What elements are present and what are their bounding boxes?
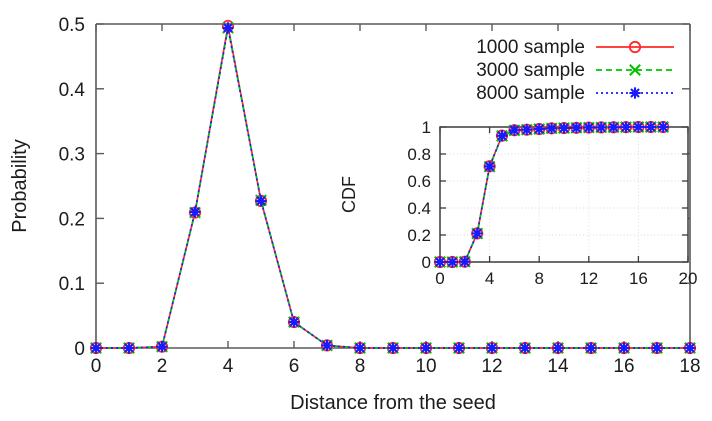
data-point-marker-star	[288, 316, 299, 327]
legend-entry-3: 8000 sample	[476, 83, 674, 104]
inset-xtick-label: 20	[679, 269, 698, 288]
data-point-marker-star	[618, 342, 629, 353]
data-point-marker-star	[496, 130, 507, 141]
data-point-marker-star	[658, 121, 669, 132]
legend-label: 8000 sample	[476, 83, 585, 104]
main-ytick-label: 0.3	[59, 145, 85, 166]
data-point-marker-star	[684, 342, 695, 353]
data-point-marker-star	[534, 123, 545, 134]
chart-figure: 02468101214161800.10.20.30.40.5Distance …	[0, 0, 712, 421]
main-xtick-label: 6	[289, 356, 300, 377]
data-point-marker-star	[596, 122, 607, 133]
main-ytick-label: 0.2	[59, 209, 85, 230]
main-ytick-label: 0.1	[59, 274, 85, 295]
data-point-marker-star	[90, 342, 101, 353]
data-point-marker-star	[486, 342, 497, 353]
data-point-marker-star	[484, 161, 495, 172]
inset-ytick-label: 0.2	[407, 226, 431, 245]
inset-ytick-label: 1	[422, 118, 431, 137]
legend-label: 3000 sample	[476, 60, 585, 81]
legend-entry-2: 3000 sample	[476, 60, 674, 81]
main-xtick-label: 2	[157, 356, 168, 377]
inset-ytick-label: 0.8	[407, 145, 431, 164]
chart-svg: 02468101214161800.10.20.30.40.5Distance …	[0, 0, 712, 421]
data-point-marker-star	[255, 195, 266, 206]
inset-ytick-label: 0.4	[407, 199, 431, 218]
inset-xtick-label: 16	[629, 269, 648, 288]
inset-xtick-label: 8	[534, 269, 543, 288]
data-point-marker-star	[521, 124, 532, 135]
inset-ytick-label: 0.6	[407, 172, 431, 191]
data-point-marker-star	[585, 342, 596, 353]
data-point-marker-star	[459, 256, 470, 267]
data-point-marker-star	[453, 342, 464, 353]
data-point-marker-star	[156, 341, 167, 352]
data-point-marker-star	[558, 122, 569, 133]
data-point-marker-star	[651, 342, 662, 353]
legend-label: 1000 sample	[476, 37, 585, 58]
data-point-marker-star	[354, 342, 365, 353]
data-point-marker-star	[546, 123, 557, 134]
inset-frame	[440, 127, 688, 262]
main-ytick-label: 0	[74, 339, 85, 360]
main-xtick-label: 14	[547, 356, 569, 377]
data-point-marker-star	[629, 87, 640, 98]
main-xtick-label: 4	[223, 356, 234, 377]
data-point-marker-star	[321, 340, 332, 351]
data-point-marker-star	[222, 22, 233, 33]
inset-xtick-label: 12	[579, 269, 598, 288]
data-point-marker-star	[123, 342, 134, 353]
main-xtick-label: 18	[679, 356, 700, 377]
legend: 1000 sample3000 sample8000 sample	[476, 37, 674, 104]
data-point-marker-star	[420, 342, 431, 353]
inset-plot-area: 04812162000.20.40.60.81CDF	[339, 118, 697, 288]
main-xtick-label: 16	[613, 356, 634, 377]
data-point-marker-star	[645, 121, 656, 132]
main-xtick-label: 10	[415, 356, 436, 377]
data-point-marker-star	[620, 122, 631, 133]
main-xtick-label: 12	[481, 356, 502, 377]
main-ytick-label: 0.5	[59, 15, 85, 36]
data-point-marker-star	[387, 342, 398, 353]
data-point-marker-star	[509, 125, 520, 136]
data-point-marker-star	[608, 122, 619, 133]
data-point-marker-star	[447, 256, 458, 267]
data-point-marker-star	[189, 206, 200, 217]
data-point-marker-star	[633, 121, 644, 132]
main-yaxis-title: Probability	[9, 139, 31, 232]
data-point-marker-star	[434, 256, 445, 267]
data-point-marker-star	[519, 342, 530, 353]
main-xtick-label: 0	[91, 356, 102, 377]
data-point-marker-star	[571, 122, 582, 133]
main-xaxis-title: Distance from the seed	[290, 392, 496, 414]
data-point-marker-star	[583, 122, 594, 133]
main-ytick-label: 0.4	[59, 80, 86, 101]
legend-entry-1: 1000 sample	[476, 37, 674, 58]
inset-ytick-label: 0	[422, 253, 431, 272]
inset-xtick-label: 0	[435, 269, 444, 288]
data-point-marker-star	[552, 342, 563, 353]
data-point-marker-star	[472, 228, 483, 239]
inset-xtick-label: 4	[485, 269, 494, 288]
inset-yaxis-title: CDF	[339, 176, 359, 213]
main-xtick-label: 8	[355, 356, 366, 377]
